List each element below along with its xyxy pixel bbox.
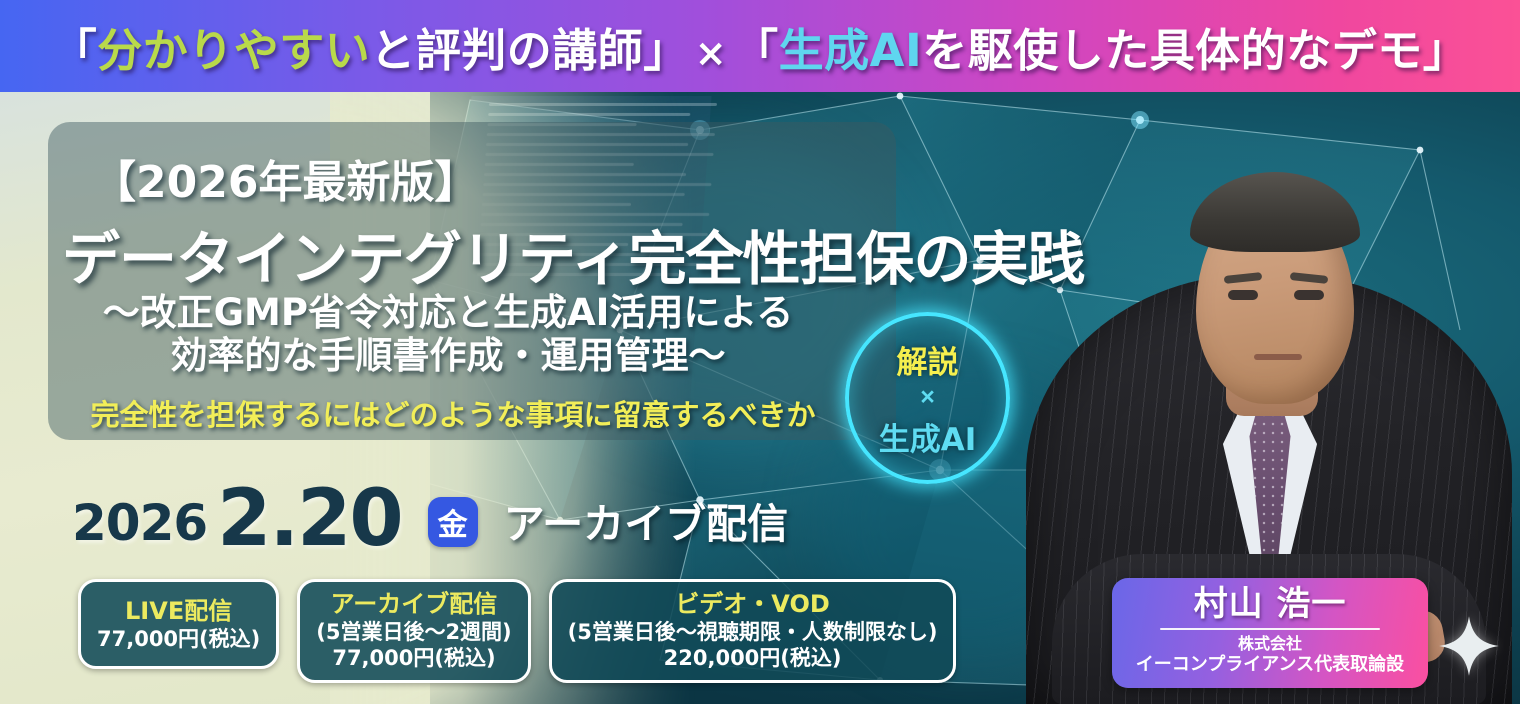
speaker-org: 株式会社 bbox=[1122, 634, 1418, 654]
price-pill-line: 77,000円(税込) bbox=[97, 626, 260, 652]
title-subtitle-line1: ～改正GMP省令対応と生成AI活用による bbox=[58, 292, 838, 335]
title-subtitle: ～改正GMP省令対応と生成AI活用による 効率的な手順書作成・運用管理～ bbox=[58, 292, 838, 378]
price-pill-line: 220,000円(税込) bbox=[568, 645, 938, 671]
page-title: データインテグリティ完全性担保の実践 bbox=[62, 212, 1085, 296]
event-delivery-mode: アーカイブ配信 bbox=[504, 490, 789, 550]
speaker-name: 村山 浩一 bbox=[1122, 586, 1418, 623]
price-pill-archive[interactable]: アーカイブ配信 (5営業日後～2週間) 77,000円(税込) bbox=[297, 579, 530, 683]
speaker-name-card: 村山 浩一 株式会社 イーコンプライアンス代表取論設 bbox=[1112, 578, 1428, 688]
badge-top-label: 解説 bbox=[897, 337, 959, 382]
headline-quote-open-2: 「 bbox=[733, 24, 779, 77]
title-kicker: 【2026年最新版】 bbox=[92, 146, 478, 210]
event-year: 2026 bbox=[72, 494, 207, 556]
event-month-day: 2.20 bbox=[217, 482, 401, 556]
title-note: 完全性を担保するにはどのような事項に留意するべきか bbox=[58, 392, 848, 434]
price-pill-list: LIVE配信 77,000円(税込) アーカイブ配信 (5営業日後～2週間) 7… bbox=[78, 579, 956, 683]
headline-text: 「分かりやすいと評判の講師」×「生成AIを駆使した具体的なデモ」 bbox=[52, 14, 1469, 79]
badge-bottom-label: 生成AI bbox=[879, 414, 977, 459]
price-pill-line: (5営業日後～視聴期限・人数制限なし) bbox=[568, 619, 938, 645]
headline-highlight-1: 分かりやすい bbox=[97, 24, 370, 77]
speaker-role: イーコンプライアンス代表取論設 bbox=[1122, 654, 1418, 677]
price-pill-line: (5営業日後～2週間) bbox=[316, 619, 511, 645]
price-pill-title: ビデオ・VOD bbox=[568, 589, 938, 619]
price-pill-live[interactable]: LIVE配信 77,000円(税込) bbox=[78, 579, 279, 669]
sparkle-icon bbox=[1438, 612, 1500, 680]
headline-rest-1: と評判の講師」 bbox=[370, 24, 689, 77]
webinar-banner: 「分かりやすいと評判の講師」×「生成AIを駆使した具体的なデモ」 【2026年最… bbox=[0, 0, 1520, 704]
title-subtitle-line2: 効率的な手順書作成・運用管理～ bbox=[58, 335, 838, 378]
price-pill-title: LIVE配信 bbox=[97, 596, 260, 626]
headline-banner: 「分かりやすいと評判の講師」×「生成AIを駆使した具体的なデモ」 bbox=[0, 0, 1520, 92]
price-pill-line: 77,000円(税込) bbox=[316, 645, 511, 671]
event-dayofweek-badge: 金 bbox=[428, 497, 478, 547]
event-date-row: 2026 2.20 金 アーカイブ配信 bbox=[72, 482, 788, 556]
badge-cross-icon: × bbox=[920, 384, 935, 412]
price-pill-title: アーカイブ配信 bbox=[316, 589, 511, 619]
headline-separator: × bbox=[689, 31, 733, 75]
name-card-divider bbox=[1160, 628, 1380, 630]
headline-rest-2: を駆使した具体的なデモ」 bbox=[922, 24, 1468, 77]
price-pill-vod[interactable]: ビデオ・VOD (5営業日後～視聴期限・人数制限なし) 220,000円(税込) bbox=[549, 579, 957, 683]
headline-quote-open-1: 「 bbox=[52, 24, 98, 77]
headline-highlight-2: 生成AI bbox=[779, 24, 923, 77]
explain-ai-badge: 解説 × 生成AI bbox=[845, 312, 1010, 484]
